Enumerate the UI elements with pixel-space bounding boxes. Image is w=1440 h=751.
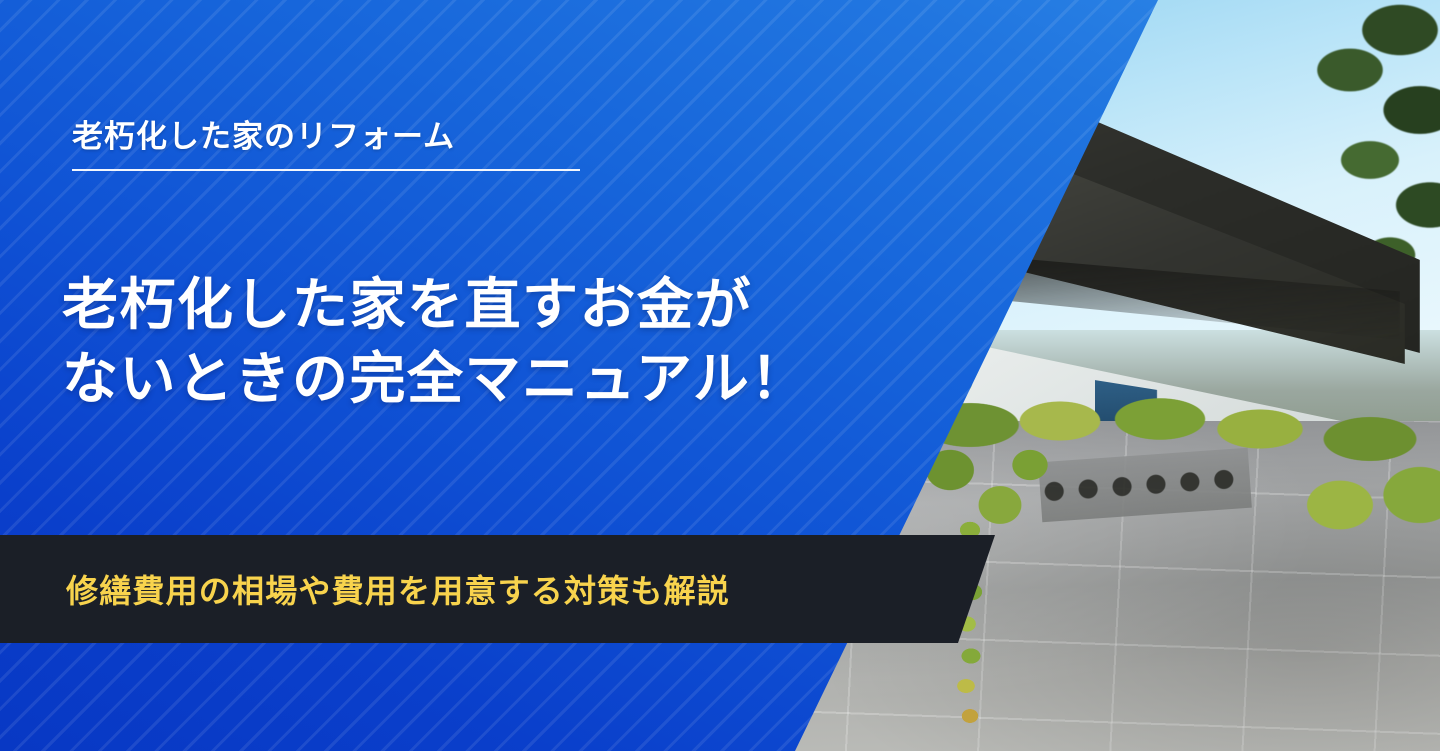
hero-banner: 老朽化した家のリフォーム 老朽化した家を直すお金が ないときの完全マニュアル！ … <box>0 0 1440 751</box>
hero-content: 老朽化した家のリフォーム 老朽化した家を直すお金が ないときの完全マニュアル！ … <box>0 0 1440 751</box>
page-title: 老朽化した家を直すお金が ないときの完全マニュアル！ <box>62 268 882 416</box>
subtitle-text: 修繕費用の相場や費用を用意する対策も解説 <box>66 566 730 612</box>
eyebrow-block: 老朽化した家のリフォーム <box>72 118 582 171</box>
eyebrow-underline <box>72 169 580 171</box>
subtitle-band: 修繕費用の相場や費用を用意する対策も解説 <box>0 535 995 643</box>
headline-line-1: 老朽化した家を直すお金が <box>62 268 882 342</box>
headline-line-2: ないときの完全マニュアル！ <box>62 342 882 416</box>
eyebrow-text: 老朽化した家のリフォーム <box>72 118 582 157</box>
